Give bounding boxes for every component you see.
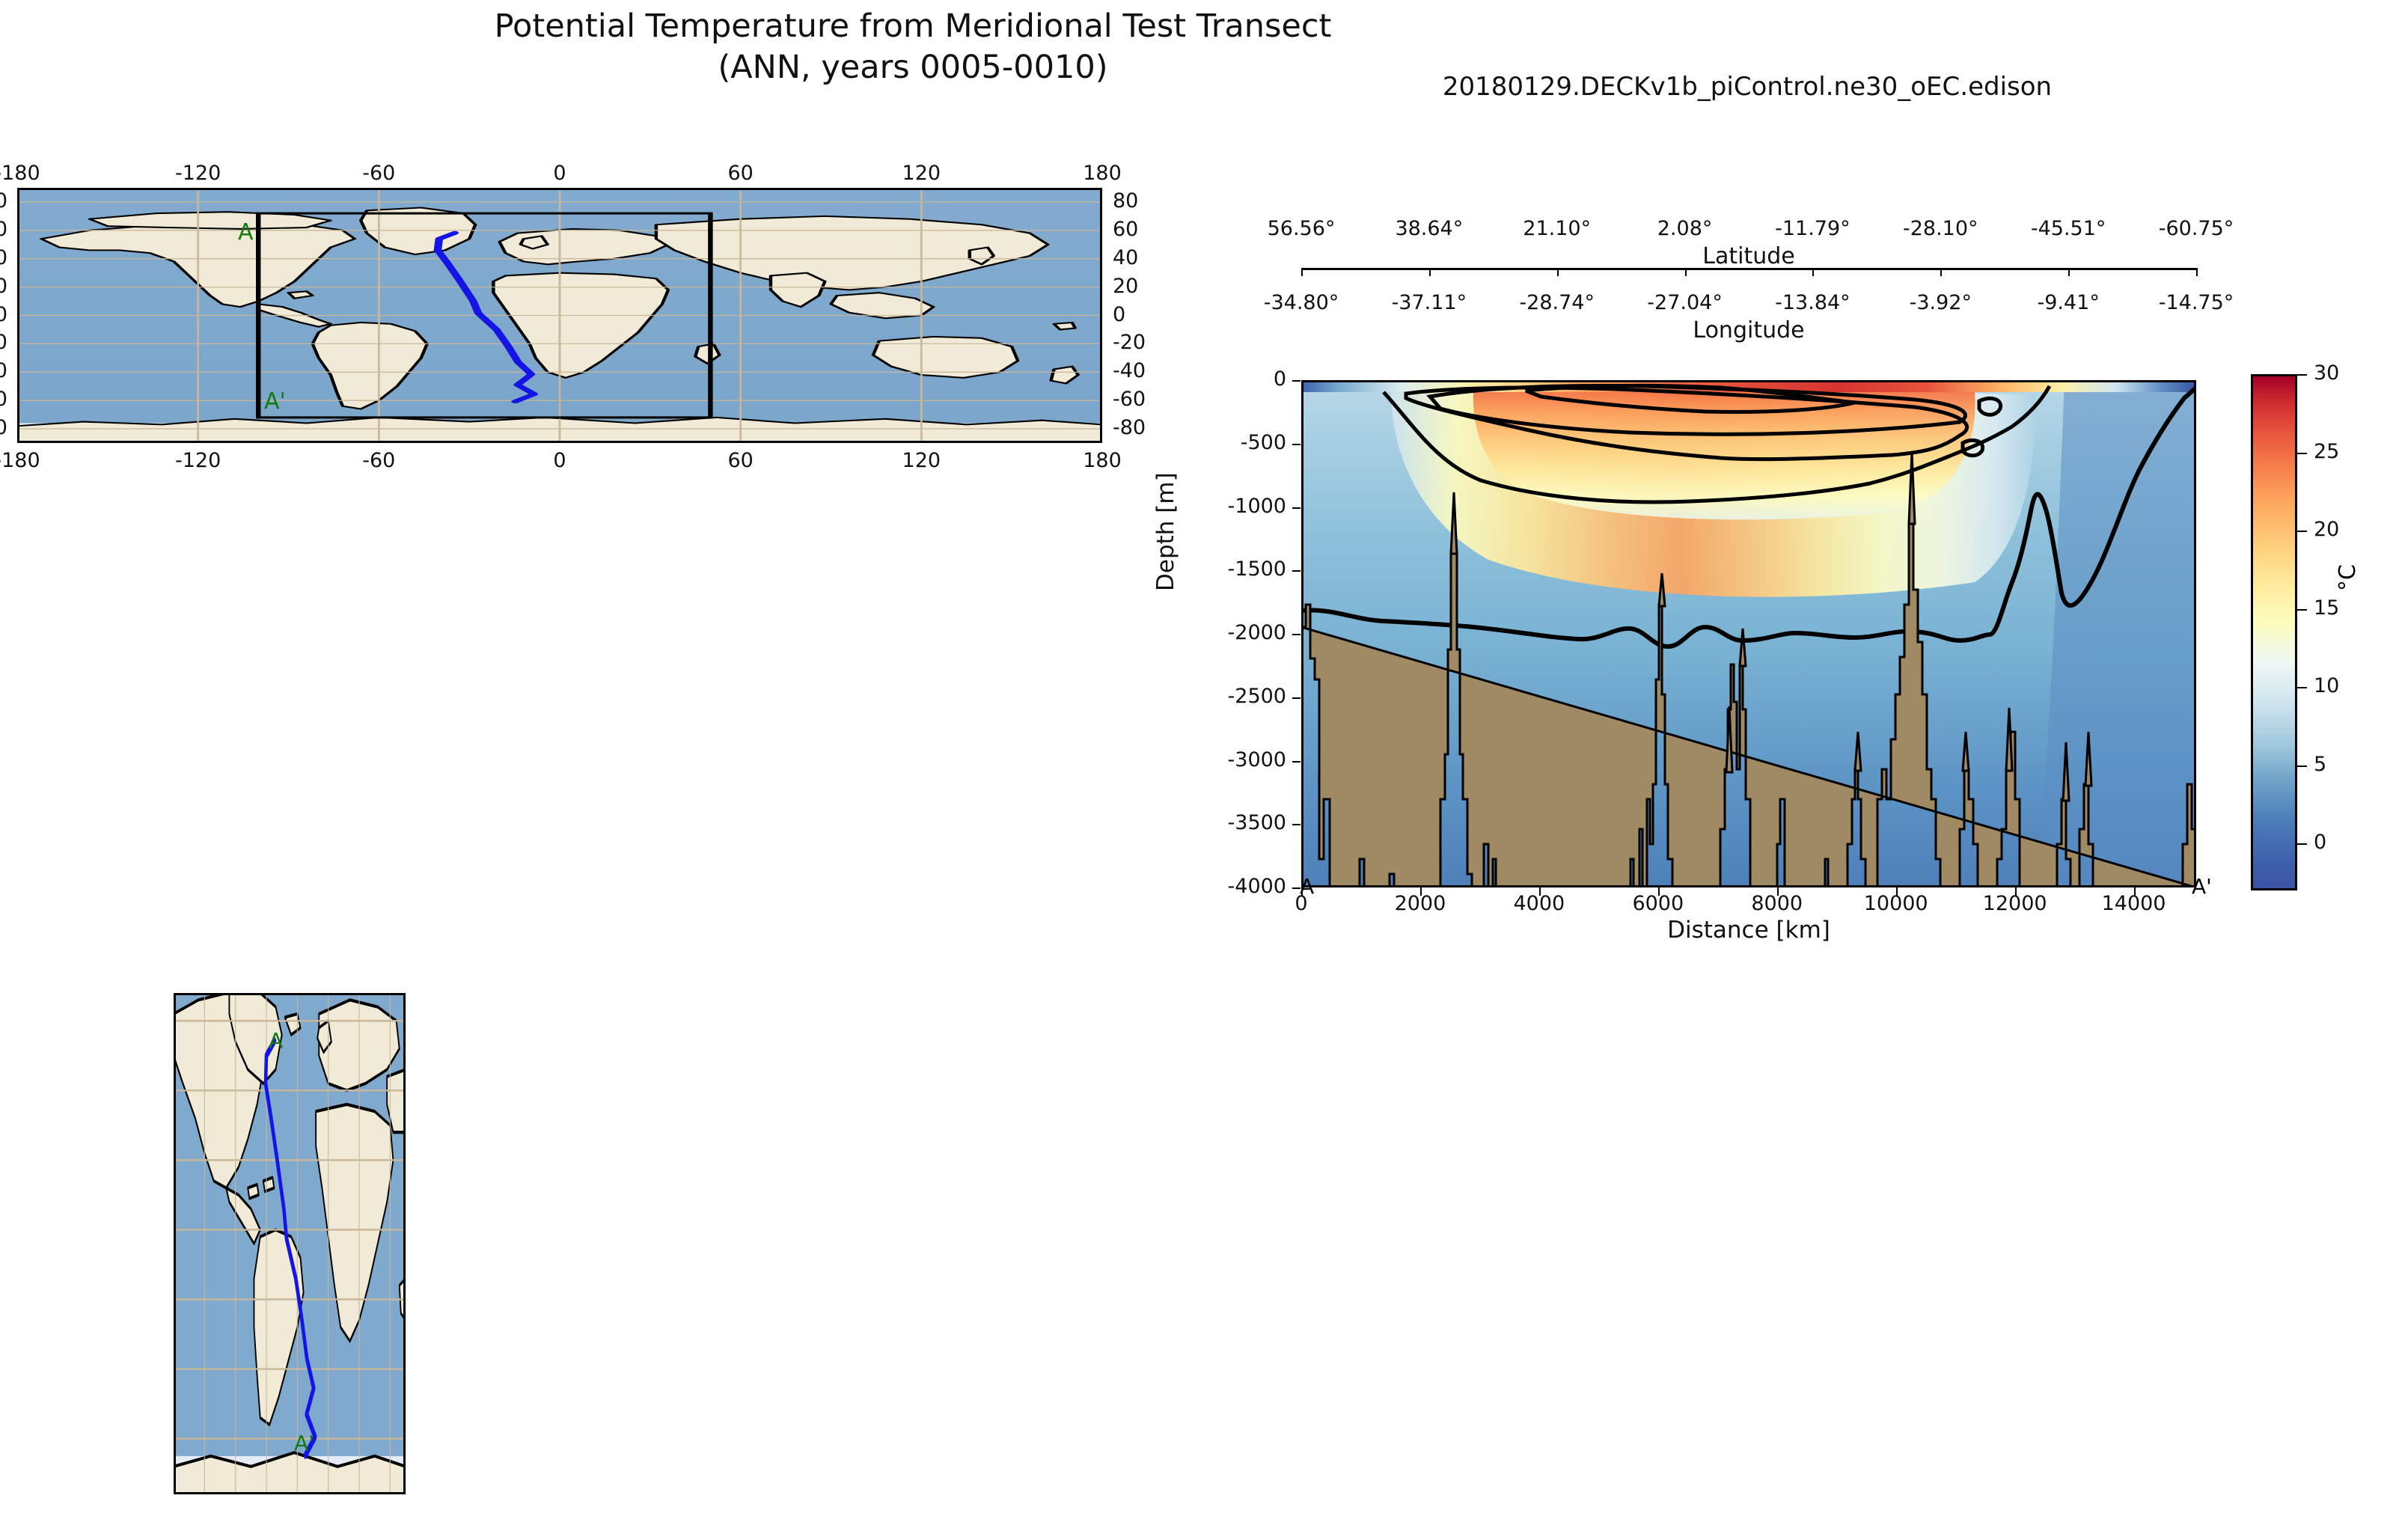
- longitude-tick-6: -9.41°: [1997, 291, 2139, 314]
- colorbar-tick-6: 0: [2314, 831, 2366, 854]
- longitude-tick-4: -13.84°: [1741, 291, 1883, 314]
- depth-tick-mark-3: [1292, 570, 1301, 572]
- world-ytick-right-1: 60: [1113, 218, 1173, 241]
- colorbar-tick-2: 20: [2314, 518, 2366, 541]
- colorbar-tick-mark-2: [2297, 531, 2307, 532]
- latitude-tick-2: 21.10°: [1490, 217, 1625, 240]
- world-ytick-right-7: -60: [1113, 388, 1173, 411]
- world-xtick-top-5: 120: [884, 162, 959, 185]
- distance-tick-mark-1: [1420, 887, 1422, 896]
- world-ytick-left-2: 40: [0, 246, 7, 269]
- secondary-axis-spine: [1301, 268, 2196, 270]
- longitude-tick-mark-0: [1301, 268, 1303, 276]
- colorbar-tick-mark-6: [2297, 843, 2307, 845]
- inset-map-frame: [174, 993, 406, 1494]
- longitude-tick-mark-1: [1429, 268, 1431, 276]
- latitude-tick-6: -45.51°: [2001, 217, 2136, 240]
- world-ytick-right-3: 20: [1113, 275, 1173, 298]
- latitude-tick-5: -28.10°: [1873, 217, 2008, 240]
- world-xtick-bottom-5: 120: [884, 449, 959, 472]
- depth-tick-mark-2: [1292, 507, 1301, 509]
- world-xtick-top-1: -120: [161, 162, 236, 185]
- world-xtick-bottom-1: -120: [161, 449, 236, 472]
- world-ytick-right-2: 40: [1113, 246, 1173, 269]
- latitude-tick-4: -11.79°: [1745, 217, 1880, 240]
- world-xtick-bottom-3: 0: [522, 449, 597, 472]
- depth-tick-mark-6: [1292, 761, 1301, 763]
- latitude-axis-label: Latitude: [1301, 243, 2196, 269]
- world-ytick-left-8: -80: [0, 416, 7, 439]
- world-ytick-right-4: 0: [1113, 303, 1173, 326]
- colorbar-tick-mark-3: [2297, 609, 2307, 611]
- colorbar-unit-label: °C: [2335, 564, 2361, 591]
- world-ytick-left-0: 80: [0, 189, 7, 213]
- transect-frame: [1301, 380, 2196, 887]
- distance-tick-mark-7: [2134, 887, 2136, 896]
- world-xtick-bottom-0: -180: [0, 449, 55, 472]
- world-xtick-top-6: 180: [1065, 162, 1140, 185]
- depth-axis-label: Depth [m]: [1152, 472, 1179, 591]
- longitude-tick-mark-4: [1812, 268, 1814, 276]
- longitude-tick-mark-6: [2068, 268, 2070, 276]
- longitude-tick-mark-2: [1557, 268, 1559, 276]
- latitude-tick-3: 2.08°: [1618, 217, 1752, 240]
- depth-tick-4: -2000: [1159, 621, 1286, 644]
- world-ytick-right-0: 80: [1113, 189, 1173, 213]
- world-ytick-left-6: -40: [0, 359, 7, 382]
- world-xtick-top-4: 60: [703, 162, 778, 185]
- world-ytick-left-4: 0: [0, 303, 7, 326]
- distance-tick-mark-0: [1301, 887, 1303, 896]
- world-xtick-bottom-4: 60: [703, 449, 778, 472]
- world-xtick-bottom-6: 180: [1065, 449, 1140, 472]
- depth-tick-5: -2500: [1159, 685, 1286, 708]
- latitude-tick-0: 56.56°: [1234, 217, 1369, 240]
- world-ytick-left-3: 20: [0, 275, 7, 298]
- depth-tick-8: -4000: [1159, 875, 1286, 898]
- temperature-colorbar[interactable]: [2251, 374, 2297, 890]
- depth-tick-7: -3500: [1159, 811, 1286, 834]
- world-ytick-left-5: -20: [0, 331, 7, 354]
- colorbar-tick-mark-0: [2297, 374, 2307, 376]
- distance-tick-mark-2: [1539, 887, 1541, 896]
- latitude-tick-7: -60.75°: [2129, 217, 2264, 240]
- world-ytick-right-5: -20: [1113, 331, 1173, 354]
- depth-tick-0: 0: [1159, 367, 1286, 391]
- distance-tick-mark-4: [1777, 887, 1779, 896]
- colorbar-tick-mark-4: [2297, 687, 2307, 688]
- depth-tick-6: -3000: [1159, 748, 1286, 771]
- longitude-tick-mark-3: [1685, 268, 1687, 276]
- world-ytick-left-1: 60: [0, 218, 7, 241]
- colorbar-tick-0: 30: [2314, 361, 2366, 385]
- longitude-tick-2: -28.74°: [1486, 291, 1628, 314]
- longitude-tick-5: -3.92°: [1869, 291, 2011, 314]
- distance-axis-label: Distance [km]: [1301, 917, 2196, 944]
- colorbar-tick-4: 10: [2314, 674, 2366, 697]
- colorbar-tick-mark-1: [2297, 453, 2307, 454]
- colorbar-tick-mark-5: [2297, 766, 2307, 767]
- world-xtick-bottom-2: -60: [341, 449, 416, 472]
- world-map-frame: [17, 188, 1102, 443]
- depth-tick-mark-8: [1292, 887, 1301, 889]
- panel-subtitle: 20180129.DECKv1b_piControl.ne30_oEC.edis…: [1242, 72, 2252, 102]
- depth-tick-mark-1: [1292, 444, 1301, 445]
- depth-tick-1: -500: [1159, 431, 1286, 454]
- longitude-tick-1: -37.11°: [1358, 291, 1500, 314]
- longitude-tick-mark-5: [1940, 268, 1942, 276]
- depth-tick-mark-4: [1292, 634, 1301, 635]
- longitude-tick-0: -34.80°: [1230, 291, 1372, 314]
- distance-tick-mark-6: [2015, 887, 2017, 896]
- depth-tick-mark-0: [1292, 380, 1301, 382]
- figure-title-line-1: Potential Temperature from Meridional Te…: [0, 6, 1826, 47]
- depth-tick-mark-5: [1292, 697, 1301, 699]
- world-xtick-top-2: -60: [341, 162, 416, 185]
- longitude-tick-7: -14.75°: [2125, 291, 2267, 314]
- world-xtick-top-3: 0: [522, 162, 597, 185]
- distance-tick-mark-3: [1658, 887, 1660, 896]
- depth-tick-mark-7: [1292, 824, 1301, 825]
- longitude-axis-label: Longitude: [1301, 317, 2196, 343]
- longitude-tick-3: -27.04°: [1614, 291, 1756, 314]
- colorbar-tick-1: 25: [2314, 440, 2366, 463]
- world-ytick-left-7: -60: [0, 388, 7, 411]
- colorbar-tick-3: 15: [2314, 596, 2366, 620]
- latitude-tick-1: 38.64°: [1362, 217, 1497, 240]
- colorbar-tick-5: 5: [2314, 753, 2366, 776]
- longitude-tick-mark-7: [2196, 268, 2198, 276]
- world-xtick-top-0: -180: [0, 162, 55, 185]
- distance-tick-mark-5: [1896, 887, 1898, 896]
